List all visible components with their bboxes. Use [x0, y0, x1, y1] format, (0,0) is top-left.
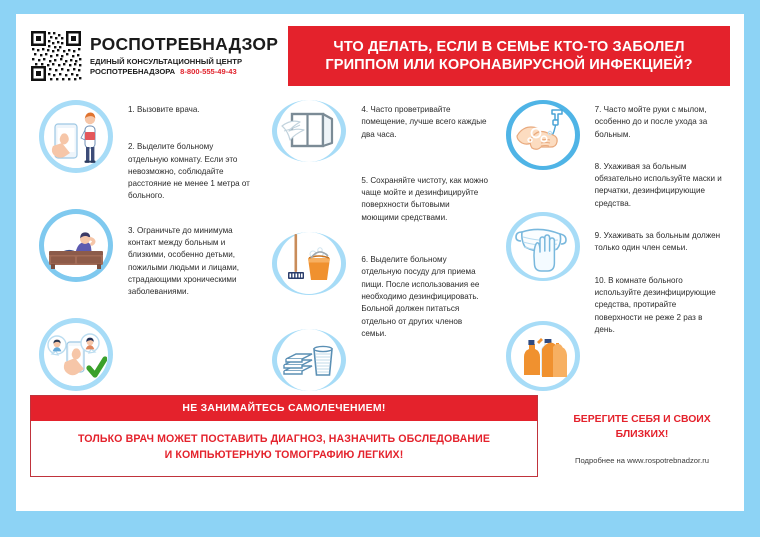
advice-item-2: 2. Выделите больному отдельную комнату. …: [128, 141, 255, 202]
advice-column-1: 1. Вызовите врача. 2. Выделите больному …: [30, 98, 263, 391]
mop-bucket-icon: [272, 232, 346, 294]
advice-item-3: 3. Ограничьте до минимума контакт между …: [128, 225, 255, 299]
hotline-phone-number: 8-800-555-49-43: [180, 67, 237, 76]
advice-item-10: 10. В комнате больного используйте дезин…: [595, 275, 722, 336]
footer-cta-block: БЕРЕГИТЕ СЕБЯ И СВОИХ БЛИЗКИХ! Подробнее…: [538, 395, 730, 477]
advice-columns: 1. Вызовите врача. 2. Выделите больному …: [30, 94, 730, 391]
advice-item-5: 5. Сохраняйте чистоту, как можно чаще мо…: [361, 175, 488, 224]
title-banner: ЧТО ДЕЛАТЬ, ЕСЛИ В СЕМЬЕ КТО-ТО ЗАБОЛЕЛ …: [288, 26, 730, 86]
brand-subtitle-line2-text: РОСПОТРЕБНАДЗОРА: [90, 67, 175, 76]
video-call-checkmark-icon: [39, 318, 113, 391]
poster-outer-frame: РОСПОТРЕБНАДЗОР ЕДИНЫЙ КОНСУЛЬТАЦИОННЫЙ …: [0, 0, 760, 537]
person-on-sofa-icon: [39, 209, 113, 282]
washing-hands-icon: [506, 100, 580, 170]
phone-doctor-icon: [39, 100, 113, 173]
icon-column-2: [263, 98, 355, 391]
footer-website-url: Подробнее на www.rospotrebnadzor.ru: [575, 456, 709, 465]
advice-column-2: 4. Часто проветривайте помещение, лучше …: [263, 98, 496, 391]
title-banner-line1: ЧТО ДЕЛАТЬ, ЕСЛИ В СЕМЬЕ КТО-ТО ЗАБОЛЕЛ: [333, 38, 684, 56]
warning-body-line2: И КОМПЬЮТЕРНУЮ ТОМОГРАФИЮ ЛЕГКИХ!: [165, 448, 404, 463]
advice-item-4: 4. Часто проветривайте помещение, лучше …: [361, 104, 488, 141]
text-column-2: 4. Часто проветривайте помещение, лучше …: [355, 98, 496, 391]
warning-body: ТОЛЬКО ВРАЧ МОЖЕТ ПОСТАВИТЬ ДИАГНОЗ, НАЗ…: [31, 421, 537, 476]
warning-box: НЕ ЗАНИМАЙТЕСЬ САМОЛЕЧЕНИЕМ! ТОЛЬКО ВРАЧ…: [30, 395, 538, 477]
brand-block: РОСПОТРЕБНАДЗОР ЕДИНЫЙ КОНСУЛЬТАЦИОННЫЙ …: [30, 26, 288, 86]
text-column-1: 1. Вызовите врача. 2. Выделите больному …: [122, 98, 263, 391]
advice-column-3: 7. Часто мойте руки с мылом, особенно до…: [497, 98, 730, 391]
icon-column-1: [30, 98, 122, 391]
plates-glass-icon: [272, 329, 346, 391]
advice-item-9: 9. Ухаживать за больным должен только од…: [595, 230, 722, 255]
open-window-icon: [272, 100, 346, 162]
footer-cta-line1: БЕРЕГИТЕ СЕБЯ И СВОИХ: [573, 413, 710, 427]
brand-text-block: РОСПОТРЕБНАДЗОР ЕДИНЫЙ КОНСУЛЬТАЦИОННЫЙ …: [90, 36, 278, 75]
poster-sheet: РОСПОТРЕБНАДЗОР ЕДИНЫЙ КОНСУЛЬТАЦИОННЫЙ …: [16, 14, 744, 511]
brand-subtitle-line2: РОСПОТРЕБНАДЗОРА8-800-555-49-43: [90, 68, 278, 76]
poster-header: РОСПОТРЕБНАДЗОР ЕДИНЫЙ КОНСУЛЬТАЦИОННЫЙ …: [30, 26, 730, 86]
brand-title: РОСПОТРЕБНАДЗОР: [90, 36, 278, 54]
poster-footer: НЕ ЗАНИМАЙТЕСЬ САМОЛЕЧЕНИЕМ! ТОЛЬКО ВРАЧ…: [30, 395, 730, 477]
advice-item-8: 8. Ухаживая за больным обязательно испол…: [595, 161, 722, 210]
qr-code-icon: [30, 30, 82, 82]
title-banner-line2: ГРИППОМ ИЛИ КОРОНАВИРУСНОЙ ИНФЕКЦИЕЙ?: [325, 56, 692, 74]
advice-item-1: 1. Вызовите врача.: [128, 104, 255, 116]
footer-cta-line2: БЛИЗКИХ!: [616, 428, 669, 442]
icon-column-3: [497, 98, 589, 391]
warning-headline: НЕ ЗАНИМАЙТЕСЬ САМОЛЕЧЕНИЕМ!: [31, 396, 537, 421]
advice-item-6: 6. Выделите больному отдельную посуду дл…: [361, 254, 488, 340]
text-column-3: 7. Часто мойте руки с мылом, особенно до…: [589, 98, 730, 391]
brand-subtitle-line1: ЕДИНЫЙ КОНСУЛЬТАЦИОННЫЙ ЦЕНТР: [90, 58, 278, 66]
mask-gloves-icon: [506, 212, 580, 282]
cleaning-products-icon: [506, 321, 580, 391]
advice-item-7: 7. Часто мойте руки с мылом, особенно до…: [595, 104, 722, 141]
warning-body-line1: ТОЛЬКО ВРАЧ МОЖЕТ ПОСТАВИТЬ ДИАГНОЗ, НАЗ…: [78, 432, 490, 447]
